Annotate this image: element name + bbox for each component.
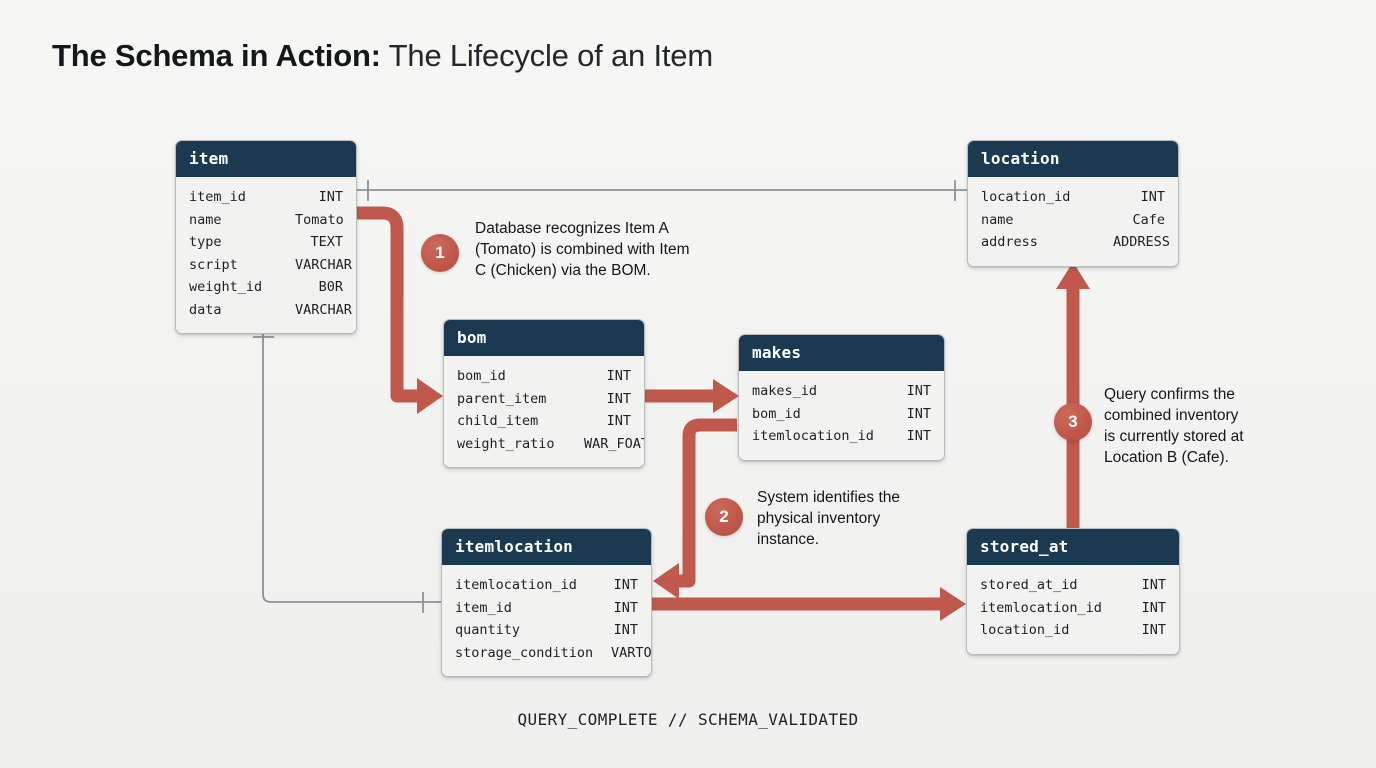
field-type: INT bbox=[593, 388, 631, 411]
entity-table-item-fields: item_id INT name Tomato type TEXT script… bbox=[176, 177, 356, 333]
step-badge-2: 2 bbox=[705, 498, 743, 536]
field-type: INT bbox=[1128, 574, 1166, 597]
table-row: address ADDRESS bbox=[981, 231, 1165, 254]
field-type: INT bbox=[1128, 619, 1166, 642]
table-row: makes_id INT bbox=[752, 380, 931, 403]
table-row: name Tomato bbox=[189, 209, 343, 232]
table-row: name Cafe bbox=[981, 209, 1165, 232]
table-row: child_item INT bbox=[457, 410, 631, 433]
field-type: VARCHAR bbox=[281, 299, 352, 322]
table-row: type TEXT bbox=[189, 231, 343, 254]
field-type: INT bbox=[1127, 186, 1165, 209]
table-row: weight_ratio WAR_FOAT bbox=[457, 433, 631, 456]
field-name: item_id bbox=[455, 597, 597, 620]
entity-table-bom[interactable]: bom bom_id INT parent_item INT child_ite… bbox=[443, 319, 645, 468]
field-name: script bbox=[189, 254, 281, 277]
step-callout-3: Query confirms the combined inventory is… bbox=[1104, 384, 1334, 468]
table-row: bom_id INT bbox=[457, 365, 631, 388]
table-row: item_id INT bbox=[189, 186, 343, 209]
field-name: name bbox=[981, 209, 1099, 232]
table-row: storage_condition VARTOR bbox=[455, 642, 638, 665]
page-title-light: The Lifecycle of an Item bbox=[381, 38, 713, 73]
field-type: Tomato bbox=[281, 209, 344, 232]
table-row: quantity INT bbox=[455, 619, 638, 642]
step-callout-1-line: Database recognizes Item A bbox=[475, 218, 735, 239]
table-row: itemlocation_id INT bbox=[980, 597, 1166, 620]
field-type: INT bbox=[893, 380, 931, 403]
relation-item-location bbox=[356, 180, 968, 201]
step-callout-3-line: is currently stored at bbox=[1104, 426, 1334, 447]
page-title-strong: The Schema in Action: bbox=[52, 38, 381, 73]
flow-arrow-bom-to-makes bbox=[644, 379, 739, 413]
table-row: data VARCHAR bbox=[189, 299, 343, 322]
entity-table-itemlocation[interactable]: itemlocation itemlocation_id INT item_id… bbox=[441, 528, 652, 677]
table-row: bom_id INT bbox=[752, 403, 931, 426]
page-title: The Schema in Action: The Lifecycle of a… bbox=[52, 38, 713, 74]
step-callout-1-line: C (Chicken) via the BOM. bbox=[475, 260, 735, 281]
table-row: itemlocation_id INT bbox=[455, 574, 638, 597]
step-badge-3: 3 bbox=[1054, 403, 1092, 441]
field-name: data bbox=[189, 299, 281, 322]
flow-arrow-storedat-to-location bbox=[1056, 262, 1090, 528]
step-badge-1: 1 bbox=[421, 234, 459, 272]
field-type: INT bbox=[893, 425, 931, 448]
step-callout-2-line: instance. bbox=[757, 529, 977, 550]
table-row: stored_at_id INT bbox=[980, 574, 1166, 597]
field-name: stored_at_id bbox=[980, 574, 1110, 597]
field-type: INT bbox=[893, 403, 931, 426]
field-name: weight_id bbox=[189, 276, 281, 299]
entity-table-location[interactable]: location location_id INT name Cafe addre… bbox=[967, 140, 1179, 267]
field-type: VARCHAR bbox=[281, 254, 352, 277]
table-row: location_id INT bbox=[981, 186, 1165, 209]
entity-table-location-title: location bbox=[968, 141, 1178, 177]
field-name: itemlocation_id bbox=[752, 425, 888, 448]
step-callout-3-line: Location B (Cafe). bbox=[1104, 447, 1334, 468]
field-name: makes_id bbox=[752, 380, 888, 403]
step-callout-3-line: Query confirms the bbox=[1104, 384, 1334, 405]
entity-table-location-fields: location_id INT name Cafe address ADDRES… bbox=[968, 177, 1178, 266]
field-name: bom_id bbox=[457, 365, 570, 388]
field-name: storage_condition bbox=[455, 642, 597, 665]
field-name: address bbox=[981, 231, 1099, 254]
field-name: itemlocation_id bbox=[455, 574, 597, 597]
step-callout-2: System identifies the physical inventory… bbox=[757, 487, 977, 550]
entity-table-bom-fields: bom_id INT parent_item INT child_item IN… bbox=[444, 356, 644, 467]
step-callout-2-line: System identifies the bbox=[757, 487, 977, 508]
table-row: location_id INT bbox=[980, 619, 1166, 642]
table-row: itemlocation_id INT bbox=[752, 425, 931, 448]
field-name: item_id bbox=[189, 186, 281, 209]
field-name: parent_item bbox=[457, 388, 570, 411]
field-type: VARTOR bbox=[597, 642, 652, 665]
field-name: location_id bbox=[980, 619, 1110, 642]
table-row: item_id INT bbox=[455, 597, 638, 620]
field-name: location_id bbox=[981, 186, 1099, 209]
table-row: parent_item INT bbox=[457, 388, 631, 411]
entity-table-item[interactable]: item item_id INT name Tomato type TEXT s… bbox=[175, 140, 357, 334]
entity-table-bom-title: bom bbox=[444, 320, 644, 356]
field-name: itemlocation_id bbox=[980, 597, 1110, 620]
entity-table-stored-at-fields: stored_at_id INT itemlocation_id INT loc… bbox=[967, 565, 1179, 654]
field-name: type bbox=[189, 231, 281, 254]
step-callout-3-line: combined inventory bbox=[1104, 405, 1334, 426]
step-callout-2-line: physical inventory bbox=[757, 508, 977, 529]
diagram-canvas: The Schema in Action: The Lifecycle of a… bbox=[0, 0, 1376, 768]
field-type: INT bbox=[600, 574, 638, 597]
field-type: ADDRESS bbox=[1099, 231, 1170, 254]
field-type: Cafe bbox=[1118, 209, 1165, 232]
flow-arrow-itemlocation-to-storedat bbox=[652, 587, 966, 621]
field-type: INT bbox=[1128, 597, 1166, 620]
step-callout-1-line: (Tomato) is combined with Item bbox=[475, 239, 735, 260]
field-name: quantity bbox=[455, 619, 597, 642]
field-name: name bbox=[189, 209, 281, 232]
entity-table-itemlocation-fields: itemlocation_id INT item_id INT quantity… bbox=[442, 565, 651, 676]
table-row: script VARCHAR bbox=[189, 254, 343, 277]
entity-table-makes-fields: makes_id INT bom_id INT itemlocation_id … bbox=[739, 371, 944, 460]
status-footer: QUERY_COMPLETE // SCHEMA_VALIDATED bbox=[0, 710, 1376, 729]
field-name: weight_ratio bbox=[457, 433, 570, 456]
entity-table-stored-at-title: stored_at bbox=[967, 529, 1179, 565]
entity-table-stored-at[interactable]: stored_at stored_at_id INT itemlocation_… bbox=[966, 528, 1180, 655]
field-name: bom_id bbox=[752, 403, 888, 426]
entity-table-itemlocation-title: itemlocation bbox=[442, 529, 651, 565]
step-callout-1: Database recognizes Item A (Tomato) is c… bbox=[475, 218, 735, 281]
field-type: INT bbox=[593, 410, 631, 433]
entity-table-makes[interactable]: makes makes_id INT bom_id INT itemlocati… bbox=[738, 334, 945, 461]
relation-item-itemlocation bbox=[253, 322, 443, 613]
field-type: INT bbox=[305, 186, 343, 209]
table-row: weight_id B0R bbox=[189, 276, 343, 299]
field-name: child_item bbox=[457, 410, 570, 433]
field-type: TEXT bbox=[296, 231, 343, 254]
field-type: B0R bbox=[305, 276, 343, 299]
field-type: WAR_FOAT bbox=[570, 433, 645, 456]
entity-table-item-title: item bbox=[176, 141, 356, 177]
field-type: INT bbox=[600, 619, 638, 642]
field-type: INT bbox=[593, 365, 631, 388]
field-type: INT bbox=[600, 597, 638, 620]
entity-table-makes-title: makes bbox=[739, 335, 944, 371]
